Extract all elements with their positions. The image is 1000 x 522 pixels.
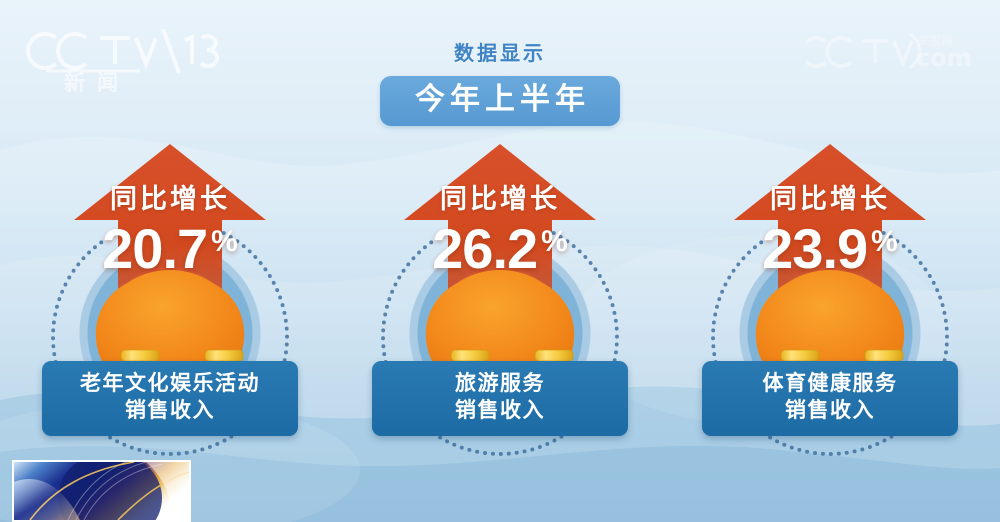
- stat-name-line1: 体育健康服务: [763, 372, 898, 395]
- stat-name-line1: 旅游服务: [455, 372, 545, 395]
- kicker-text: 数据显示: [454, 44, 546, 64]
- stat-name-box: 体育健康服务 销售收入: [702, 361, 958, 436]
- stat-name-box: 老年文化娱乐活动 销售收入: [42, 361, 298, 436]
- corner-news-graphic: [12, 460, 191, 522]
- stat-name-line2: 销售收入: [708, 397, 952, 425]
- stat-name-box: 旅游服务 销售收入: [372, 361, 628, 436]
- stat-group-2: 同比增长 26.2 %: [364, 140, 636, 450]
- stat-columns: 同比增长 20.7 %: [0, 140, 1000, 450]
- stat-name-line1: 老年文化娱乐活动: [80, 372, 260, 395]
- stat-name-line2: 销售收入: [48, 397, 292, 425]
- infographic-screen: 新闻 com 央视网 数据显示 今年上半年: [0, 0, 1000, 522]
- stat-group-3: 同比增长 23.9 %: [694, 140, 966, 450]
- header-block: 数据显示 今年上半年: [0, 44, 1000, 126]
- stat-name-line2: 销售收入: [378, 397, 622, 425]
- stat-group-1: 同比增长 20.7 %: [34, 140, 306, 450]
- title-pill: 今年上半年: [380, 76, 620, 126]
